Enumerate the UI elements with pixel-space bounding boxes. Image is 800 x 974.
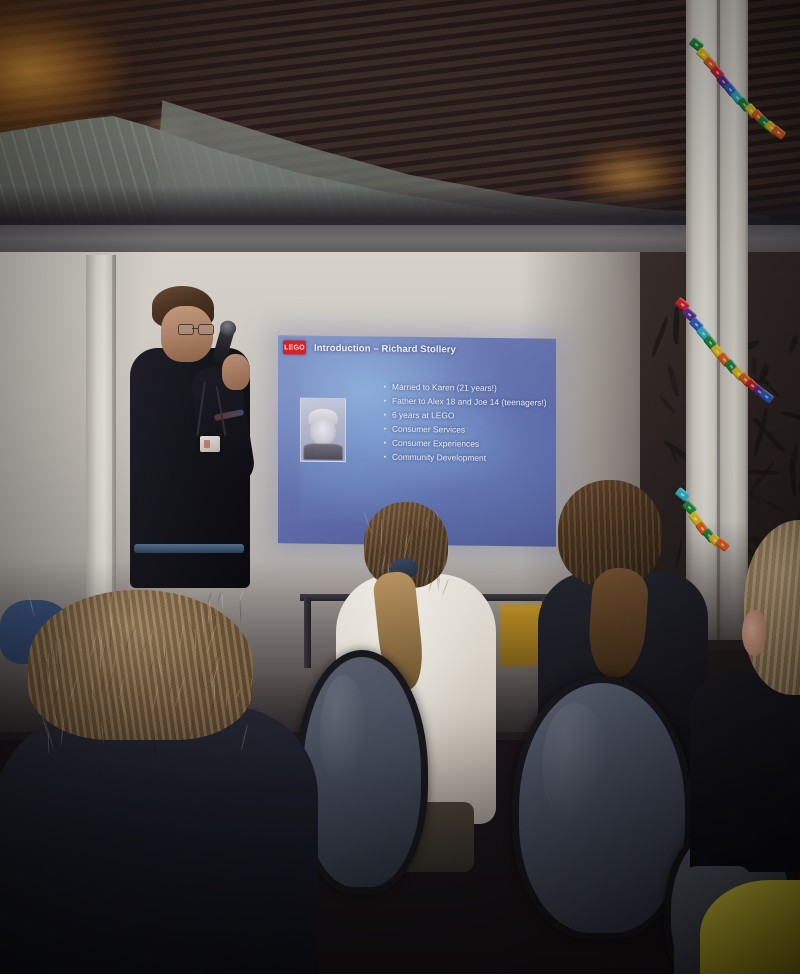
hair-strand: [128, 593, 130, 617]
plant-leaf: [781, 409, 800, 427]
hair-strand: [425, 516, 428, 530]
hair-strand: [251, 689, 252, 703]
hair-strand: [189, 719, 193, 739]
hair-strand: [55, 715, 59, 726]
hair-strand: [119, 678, 124, 699]
hair-strand: [90, 633, 98, 659]
hair-strand: [200, 605, 203, 636]
name-badge: [200, 436, 220, 452]
hair-strand: [110, 694, 116, 714]
slide-bullet: Consumer Services: [384, 423, 554, 438]
hair-strand: [85, 697, 92, 724]
plant-leaf: [748, 461, 775, 492]
hair-strand: [381, 518, 382, 546]
audience-person-foreground-left: [28, 590, 268, 974]
hair-strand: [50, 682, 61, 714]
hair-strand: [194, 703, 196, 716]
presenter-glasses: [178, 324, 212, 333]
hair-strand: [109, 591, 113, 611]
hair-strand: [443, 550, 450, 569]
slide-bullet-list: Married to Karen (21 years!)Father to Al…: [384, 381, 554, 468]
hair-strand: [120, 695, 129, 719]
hair-strand: [195, 628, 196, 658]
hair-strand: [363, 511, 372, 535]
hair-strand: [156, 653, 162, 677]
hair-strand: [28, 593, 35, 617]
presenter-hem-stripe: [134, 544, 244, 553]
lego-logo: LEGO: [283, 340, 306, 354]
hair-strand: [150, 629, 153, 644]
hair-strand: [221, 593, 223, 610]
hair-strand: [109, 626, 112, 652]
hair-strand: [381, 553, 387, 573]
hair-strand: [208, 612, 210, 624]
hair-strand: [58, 637, 62, 655]
hair-strand: [149, 659, 154, 675]
ceiling-light-glow-left: [0, 10, 130, 130]
person-d-torso: [690, 672, 800, 872]
person-c-head: [28, 590, 253, 740]
hair-strand: [371, 551, 372, 574]
table-leg-left: [304, 598, 311, 668]
slide-bullet: 6 years at LEGO: [384, 409, 554, 424]
hair-strand: [418, 525, 420, 539]
hair-strand: [206, 624, 217, 656]
hair-strand: [386, 544, 390, 559]
slide-header: LEGO Introduction – Richard Stollery: [278, 335, 556, 362]
hair-strand: [178, 623, 183, 650]
microphone-head: [218, 319, 238, 338]
plant-leaf: [750, 357, 758, 375]
hair-strand: [236, 688, 240, 698]
plant-leaf: [787, 445, 800, 477]
hair-strand: [65, 621, 67, 640]
hair-strand: [221, 615, 224, 636]
hair-strand: [169, 675, 175, 696]
hair-strand: [152, 684, 159, 711]
hair-strand: [251, 678, 253, 688]
slide-bullet: Consumer Experiences: [384, 437, 554, 452]
slide-bullet: Married to Karen (21 years!): [384, 381, 554, 396]
glasses-lens-right: [198, 324, 214, 335]
hair-strand: [178, 593, 180, 604]
plant-leaf: [660, 395, 676, 415]
hair-strand: [127, 637, 130, 652]
hair-strand: [51, 646, 54, 660]
hair-strand: [117, 622, 121, 645]
glasses-lens-left: [178, 324, 194, 335]
plant-leaf: [787, 334, 800, 353]
plant-leaf: [762, 497, 786, 514]
hair-strand: [239, 599, 241, 624]
conference-room-photo: LEGO Introduction – Richard Stollery Mar…: [0, 0, 800, 974]
hair-strand: [225, 690, 227, 707]
hair-strand: [38, 661, 40, 695]
hair-strand: [164, 646, 166, 666]
slide-bullet: Community Development: [384, 451, 554, 466]
slide-title: Introduction – Richard Stollery: [314, 342, 456, 355]
hair-strand: [161, 623, 164, 646]
hair-strand: [41, 677, 47, 698]
chair-sheen: [320, 675, 367, 790]
hair-strand: [42, 620, 48, 637]
presenter: [116, 286, 266, 586]
presenter-hand: [222, 354, 250, 390]
slide-bullet: Father to Alex 18 and Joe 14 (teenagers!…: [384, 395, 554, 410]
hair-strand: [67, 626, 77, 656]
hair-strand: [101, 679, 104, 693]
hair-strand: [68, 675, 78, 704]
hair-strand: [436, 511, 440, 521]
plant-leaf: [667, 364, 680, 397]
slide-portrait-photo: [300, 398, 346, 463]
hair-strand: [209, 693, 218, 720]
hair-strand: [174, 677, 185, 707]
portrait-body: [304, 443, 343, 460]
hair-strand: [106, 666, 115, 697]
hair-strand: [201, 672, 206, 695]
hair-strand: [130, 623, 136, 639]
chair-sheen: [542, 703, 608, 828]
hair-strand: [142, 642, 146, 651]
person-d-ear: [742, 610, 766, 656]
portrait-face: [310, 417, 336, 445]
